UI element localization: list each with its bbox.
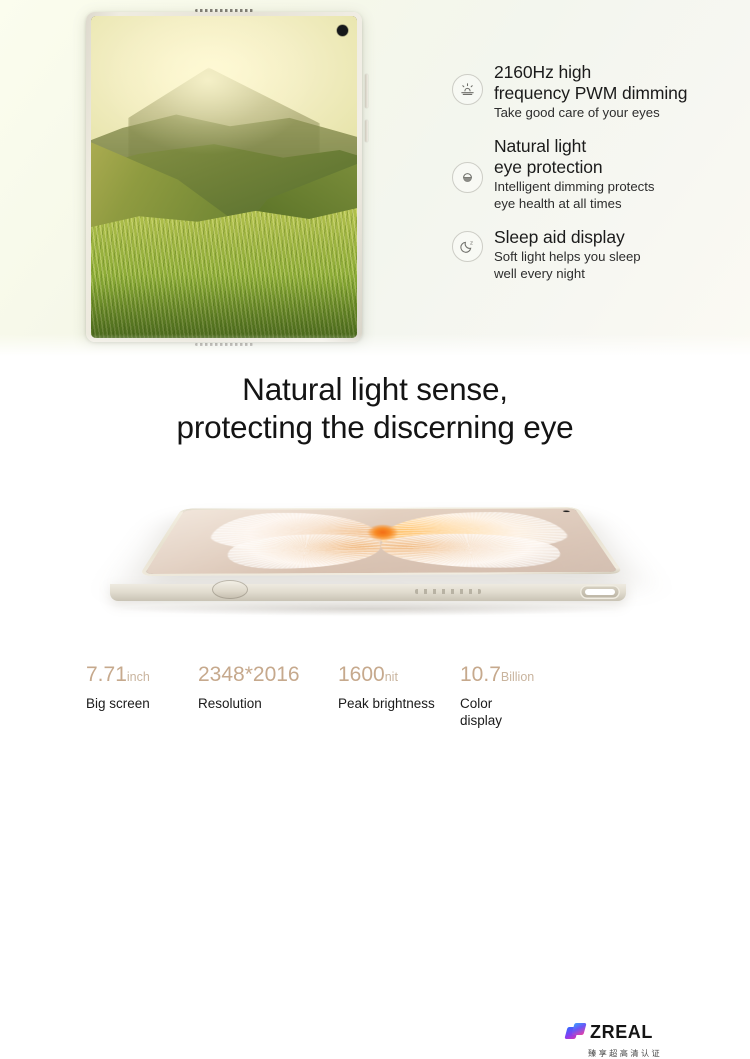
sunrise-dimming-icon [452, 74, 483, 105]
feature-title-line2: eye protection [494, 157, 744, 178]
power-button[interactable] [365, 120, 368, 142]
feature-subtitle-line1: Intelligent dimming protects [494, 179, 744, 196]
feature-item-sleep-aid: z Sleep aid display Soft light helps you… [452, 227, 744, 283]
speaker-grille-bottom-icon [195, 343, 253, 346]
camera-punch-hole-icon [337, 25, 348, 36]
device-bottom-screen [144, 508, 618, 574]
feature-item-pwm-dimming: 2160Hz high frequency PWM dimming Take g… [452, 62, 744, 122]
device-top-foldable-tablet [86, 12, 362, 342]
feature-title-line2: frequency PWM dimming [494, 83, 744, 104]
feature-title-line1: 2160Hz high [494, 62, 744, 83]
spec-unit: nit [385, 670, 398, 684]
usb-c-port-icon [580, 585, 620, 599]
spec-item-color-display: 10.7Billion Color display [460, 662, 568, 729]
sleep-moon-icon: z [452, 231, 483, 262]
spec-unit: Billion [501, 670, 534, 684]
wallpaper-wing-lower-left [223, 534, 382, 569]
spec-number: 10.7 [460, 663, 501, 686]
feature-list: 2160Hz high frequency PWM dimming Take g… [452, 62, 744, 283]
wallpaper-wing-lower-right [381, 534, 568, 569]
spec-number: 2348*2016 [198, 663, 300, 686]
feature-subtitle-line2: eye health at all times [494, 196, 744, 213]
page-headline: Natural light sense, protecting the disc… [0, 370, 750, 446]
spec-label-line1: Resolution [198, 696, 338, 713]
zreal-logo-row: ZREAL [566, 1022, 690, 1043]
spec-label-line1: Peak brightness [338, 696, 460, 713]
device-bottom-edge [110, 584, 626, 601]
speaker-grille-top-icon [195, 9, 253, 12]
svg-text:z: z [470, 240, 473, 246]
spec-unit: inch [127, 670, 150, 684]
feature-item-eye-protection: Natural light eye protection Intelligent… [452, 136, 744, 213]
wallpaper-sun-glow [91, 16, 357, 338]
volume-button[interactable] [365, 74, 368, 108]
spec-item-peak-brightness: 1600nit Peak brightness [338, 662, 460, 713]
spec-label-line2: display [460, 713, 568, 730]
screen-sheen [144, 508, 618, 574]
spec-label-line1: Big screen [86, 696, 198, 713]
device-drop-shadow [120, 602, 620, 616]
spec-item-resolution: 2348*2016 Resolution [198, 662, 338, 713]
device-bottom-foldable-tablet [139, 507, 624, 576]
feature-subtitle-line1: Take good care of your eyes [494, 105, 744, 122]
spec-value: 10.7Billion [460, 662, 568, 690]
spec-number: 1600 [338, 663, 385, 686]
zreal-certification-caption: 臻享超高清认证 [588, 1047, 690, 1059]
speaker-grille-icon [415, 589, 481, 594]
headline-line2: protecting the discerning eye [0, 408, 750, 446]
feature-title-line1: Natural light [494, 136, 744, 157]
hinge-mechanism-icon [212, 580, 248, 599]
spec-number: 7.71 [86, 663, 127, 686]
feature-subtitle-line2: well every night [494, 266, 744, 283]
zreal-diamond-logo-icon [566, 1023, 585, 1042]
spec-value: 7.71inch [86, 662, 198, 690]
spec-item-big-screen: 7.71inch Big screen [86, 662, 198, 713]
spec-label-line1: Color [460, 696, 568, 713]
spec-value: 1600nit [338, 662, 460, 690]
zreal-wordmark: ZREAL [590, 1022, 653, 1043]
device-bottom-stage [105, 448, 657, 648]
top-feature-panel: 2160Hz high frequency PWM dimming Take g… [0, 0, 750, 356]
spec-value: 2348*2016 [198, 662, 338, 690]
camera-punch-hole-icon [563, 510, 570, 512]
device-top-screen [91, 16, 357, 338]
feature-subtitle-line1: Soft light helps you sleep [494, 249, 744, 266]
zreal-certification-badge: ZREAL 臻享超高清认证 [566, 1022, 690, 1059]
feature-title-line1: Sleep aid display [494, 227, 744, 248]
bottom-showcase-panel: Natural light sense, protecting the disc… [0, 356, 750, 750]
spec-row: 7.71inch Big screen 2348*2016 Resolution… [86, 662, 671, 729]
headline-line1: Natural light sense, [0, 370, 750, 408]
eye-protection-dimming-icon [452, 162, 483, 193]
